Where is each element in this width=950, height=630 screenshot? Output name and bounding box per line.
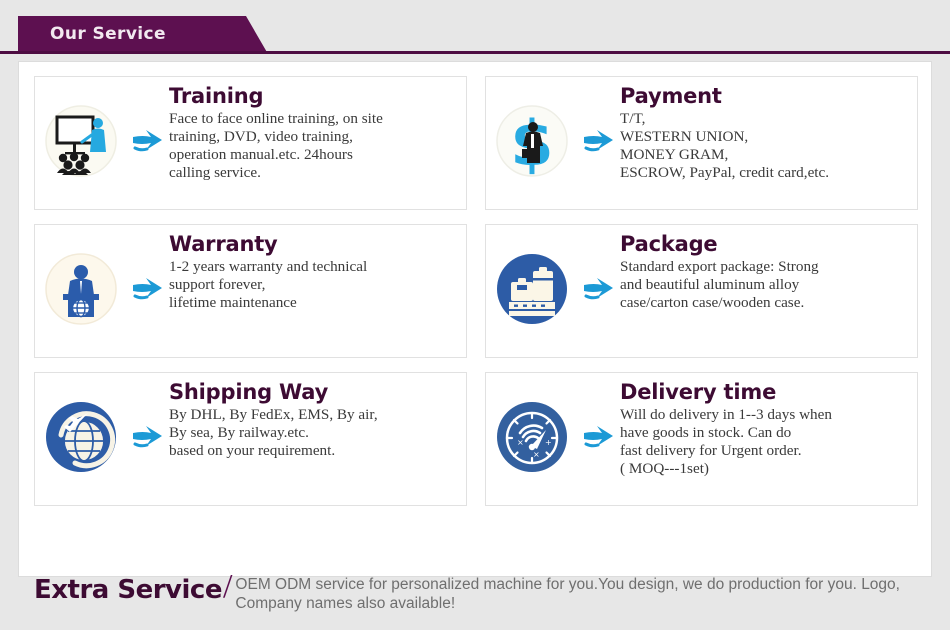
service-card-grid: Training Face to face online training, o… (34, 76, 918, 506)
training-presentation-icon (35, 77, 127, 205)
extra-service-text: OEM ODM service for personalized machine… (235, 570, 900, 614)
arrow-right-icon (578, 373, 620, 501)
extra-service-footer: Extra Service / OEM ODM service for pers… (34, 570, 918, 630)
package-luggage-icon (486, 225, 578, 353)
delivery-speedometer-icon: ×+× (486, 373, 578, 501)
arrow-right-icon (578, 77, 620, 205)
arrow-right-icon (127, 77, 169, 205)
service-card-training: Training Face to face online training, o… (34, 76, 467, 210)
content-panel: Training Face to face online training, o… (18, 61, 932, 577)
arrow-right-icon (127, 373, 169, 501)
svg-text:×: × (533, 450, 540, 459)
card-body: Face to face online training, on site tr… (169, 110, 460, 182)
our-service-panel: Our Service (0, 0, 950, 608)
card-title: Payment (620, 85, 911, 107)
svg-text:×: × (517, 438, 524, 447)
card-body: T/T, WESTERN UNION, MONEY GRAM, ESCROW, … (620, 110, 911, 182)
card-text-block: Package Standard export package: Strong … (620, 225, 917, 312)
card-text-block: Delivery time Will do delivery in 1--3 d… (620, 373, 917, 478)
card-title: Delivery time (620, 381, 911, 403)
service-card-warranty: Warranty 1-2 years warranty and technica… (34, 224, 467, 358)
shipping-globe-plane-icon (35, 373, 127, 501)
service-card-shipping-way: Shipping Way By DHL, By FedEx, EMS, By a… (34, 372, 467, 506)
service-card-delivery-time: ×+× Delivery time Will do delivery in 1-… (485, 372, 918, 506)
card-body: Will do delivery in 1--3 days when have … (620, 406, 911, 478)
warranty-podium-globe-icon (35, 225, 127, 353)
card-text-block: Shipping Way By DHL, By FedEx, EMS, By a… (169, 373, 466, 460)
card-title: Training (169, 85, 460, 107)
card-text-block: Training Face to face online training, o… (169, 77, 466, 182)
extra-service-separator: / (222, 570, 235, 604)
service-card-package: Package Standard export package: Strong … (485, 224, 918, 358)
extra-service-label: Extra Service (34, 570, 222, 603)
card-title: Warranty (169, 233, 460, 255)
arrow-right-icon (578, 225, 620, 353)
svg-text:+: + (545, 438, 552, 447)
section-header: Our Service (18, 16, 268, 54)
card-text-block: Warranty 1-2 years warranty and technica… (169, 225, 466, 312)
payment-dollar-icon: $ (486, 77, 578, 205)
page-title: Our Service (50, 24, 166, 44)
service-card-payment: $ Payment T/T, WESTE (485, 76, 918, 210)
card-body: 1-2 years warranty and technical support… (169, 258, 460, 312)
arrow-right-icon (127, 225, 169, 353)
card-title: Package (620, 233, 911, 255)
card-body: By DHL, By FedEx, EMS, By air, By sea, B… (169, 406, 460, 460)
header-divider-line (0, 51, 950, 54)
card-body: Standard export package: Strong and beau… (620, 258, 911, 312)
card-text-block: Payment T/T, WESTERN UNION, MONEY GRAM, … (620, 77, 917, 182)
card-title: Shipping Way (169, 381, 460, 403)
